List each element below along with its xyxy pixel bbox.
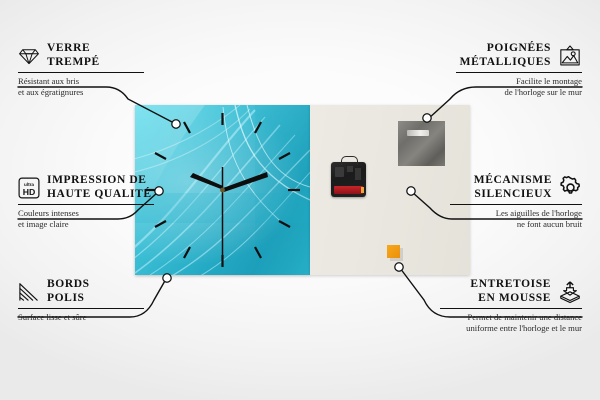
polished-edge-icon — [18, 282, 40, 302]
feature-title: BORDS POLIS — [47, 278, 90, 305]
title-line-1: POIGNÉES — [487, 42, 551, 54]
feature-description: Les aiguilles de l'horloge ne font aucun… — [450, 208, 582, 229]
title-line-1: ENTRETOISE — [470, 278, 551, 290]
foam-spacer-icon — [558, 280, 582, 304]
title-line-1: VERRE — [47, 42, 90, 54]
divider — [450, 204, 582, 205]
title-line-2: EN MOUSSE — [478, 292, 551, 304]
feature-bords-polis: BORDS POLIS Surface lisse et sûre — [18, 278, 144, 323]
desc-line-2: de l'horloge sur le mur — [505, 87, 582, 97]
feature-description: Permet de maintenir une distance uniform… — [440, 312, 582, 333]
svg-text:HD: HD — [23, 186, 36, 196]
divider — [18, 72, 144, 73]
feature-description: Résistant aux bris et aux égratignures — [18, 76, 144, 97]
desc-line-1: Facilite le montage — [516, 76, 582, 86]
picture-frame-hook-icon — [558, 45, 582, 67]
feature-title: MÉCANISME SILENCIEUX — [474, 174, 552, 201]
gear-icon — [559, 176, 582, 199]
desc-line-1: Permet de maintenir une distance — [467, 312, 582, 322]
divider — [456, 72, 582, 73]
feature-description: Surface lisse et sûre — [18, 312, 144, 323]
title-line-2: TREMPÉ — [47, 56, 100, 68]
desc-line-2: ne font aucun bruit — [517, 219, 582, 229]
desc-line-2: uniforme entre l'horloge et le mur — [466, 323, 582, 333]
infographic-canvas: VERRE TREMPÉ Résistant aux bris et aux é… — [0, 0, 600, 400]
feature-mecanisme-silencieux: MÉCANISME SILENCIEUX Les aiguilles de l'… — [450, 174, 582, 229]
title-line-1: MÉCANISME — [474, 174, 552, 186]
wire-endpoints — [155, 114, 431, 282]
title-line-2: POLIS — [47, 292, 85, 304]
desc-line-2: et image claire — [18, 219, 69, 229]
feature-description: Facilite le montage de l'horloge sur le … — [456, 76, 582, 97]
endpoint-dot-mecanisme — [407, 187, 415, 195]
desc-line-1: Couleurs intenses — [18, 208, 79, 218]
title-line-2: SILENCIEUX — [474, 188, 552, 200]
ultra-hd-icon: ultra HD — [18, 177, 40, 199]
divider — [440, 308, 582, 309]
desc-line-1: Résistant aux bris — [18, 76, 79, 86]
feature-title: ENTRETOISE EN MOUSSE — [470, 278, 551, 305]
feature-impression-haute-qualite: ultra HD IMPRESSION DE HAUTE QUALITÉ Cou… — [18, 174, 154, 229]
endpoint-dot-bords-polis — [163, 274, 171, 282]
title-line-1: BORDS — [47, 278, 90, 290]
feature-title: IMPRESSION DE HAUTE QUALITÉ — [47, 174, 152, 201]
desc-line-1: Les aiguilles de l'horloge — [496, 208, 582, 218]
endpoint-dot-entretoise — [395, 263, 403, 271]
title-line-2: MÉTALLIQUES — [460, 56, 551, 68]
diamond-icon — [18, 47, 40, 65]
desc-line-2: et aux égratignures — [18, 87, 83, 97]
desc-line-1: Surface lisse et sûre — [18, 312, 87, 322]
feature-description: Couleurs intenses et image claire — [18, 208, 154, 229]
feature-title: VERRE TREMPÉ — [47, 42, 100, 69]
endpoint-dot-verre-trempe — [172, 120, 180, 128]
feature-verre-trempe: VERRE TREMPÉ Résistant aux bris et aux é… — [18, 42, 144, 97]
endpoint-dot-poignees — [423, 114, 431, 122]
divider — [18, 204, 154, 205]
endpoint-dot-impression — [155, 187, 163, 195]
divider — [18, 308, 144, 309]
feature-poignees-metalliques: POIGNÉES MÉTALLIQUES Facilite le montage… — [456, 42, 582, 97]
feature-title: POIGNÉES MÉTALLIQUES — [460, 42, 551, 69]
title-line-1: IMPRESSION DE — [47, 174, 147, 186]
feature-entretoise-en-mousse: ENTRETOISE EN MOUSSE Permet de maintenir… — [440, 278, 582, 333]
title-line-2: HAUTE QUALITÉ — [47, 188, 152, 200]
